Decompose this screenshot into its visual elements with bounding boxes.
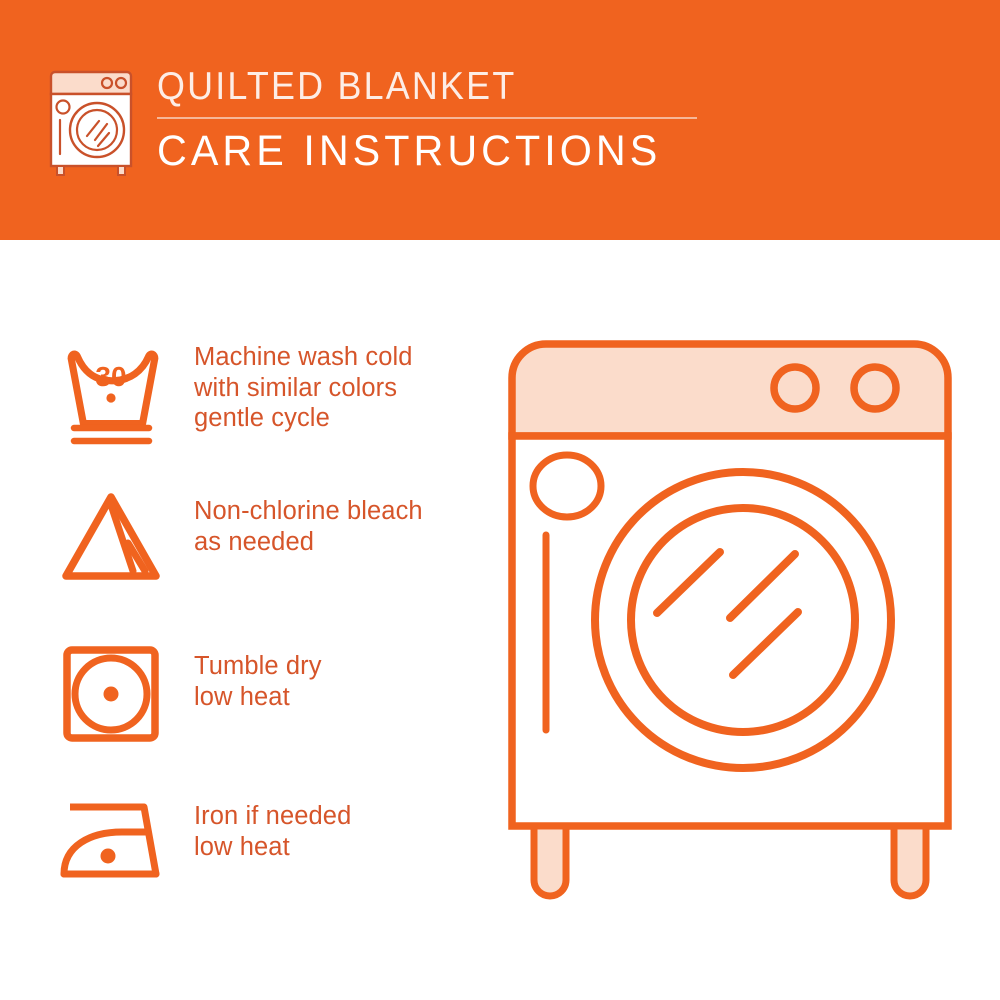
care-item-bleach: Non-chlorine bleach as needed bbox=[48, 483, 423, 593]
care-instruction-list: 30 Machine wash cold with similar colors… bbox=[0, 240, 500, 1000]
tumble-dry-low-heat-icon bbox=[48, 638, 176, 748]
front-load-washing-machine-illustration bbox=[490, 330, 970, 940]
page-title-bottom: CARE INSTRUCTIONS bbox=[157, 126, 675, 176]
care-instructions-page: QUILTED BLANKET CARE INSTRUCTIONS 30 bbox=[0, 0, 1000, 1000]
washing-machine-icon bbox=[45, 66, 137, 178]
machine-leg bbox=[894, 826, 926, 896]
machine-leg bbox=[534, 826, 566, 896]
page-header: QUILTED BLANKET CARE INSTRUCTIONS bbox=[0, 0, 1000, 240]
wash-tub-30-gentle-icon: 30 bbox=[48, 338, 176, 448]
header-title-block: QUILTED BLANKET CARE INSTRUCTIONS bbox=[157, 62, 697, 176]
wash-temperature-label: 30 bbox=[95, 361, 126, 392]
care-item-tumble-dry-text: Tumble dry low heat bbox=[194, 638, 322, 712]
header-content: QUILTED BLANKET CARE INSTRUCTIONS bbox=[45, 62, 697, 178]
care-item-iron: Iron if needed low heat bbox=[48, 788, 351, 898]
iron-low-heat-icon bbox=[48, 788, 176, 898]
care-item-iron-text: Iron if needed low heat bbox=[194, 788, 351, 862]
page-title-top: QUILTED BLANKET bbox=[157, 64, 654, 110]
care-item-wash-text: Machine wash cold with similar colors ge… bbox=[194, 338, 413, 434]
care-item-wash: 30 Machine wash cold with similar colors… bbox=[48, 338, 413, 448]
title-divider bbox=[157, 117, 697, 119]
non-chlorine-bleach-triangle-icon bbox=[48, 483, 176, 593]
care-item-tumble-dry: Tumble dry low heat bbox=[48, 638, 322, 748]
care-item-bleach-text: Non-chlorine bleach as needed bbox=[194, 483, 423, 557]
